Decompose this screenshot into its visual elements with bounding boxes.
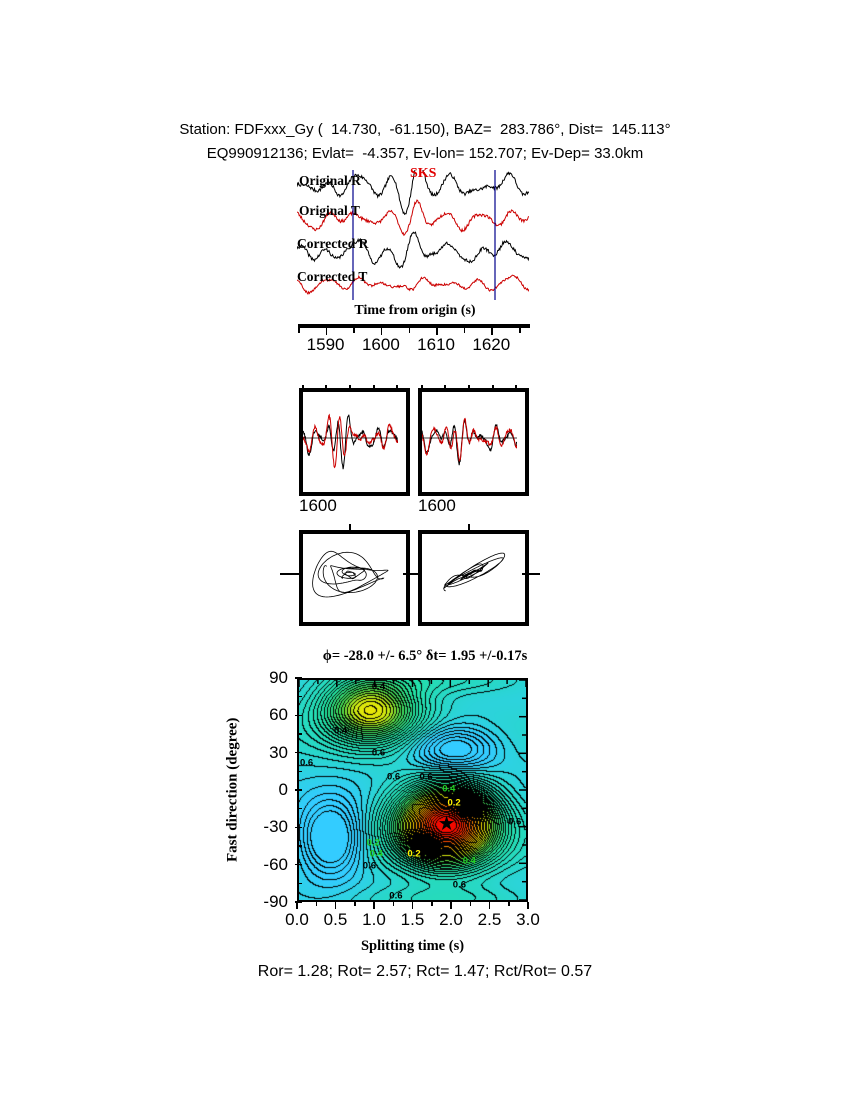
- contour-label: 0.6: [363, 860, 376, 871]
- time-axis-bar: [298, 324, 530, 328]
- time-tick: [436, 328, 438, 335]
- time-axis-label: Time from origin (s): [280, 303, 550, 319]
- x-tick: [450, 902, 452, 909]
- contour-label: 0.6: [419, 771, 432, 782]
- x-tick-minor: [354, 902, 356, 906]
- x-tick-label: 0.0: [285, 910, 309, 930]
- time-tick-minor: [353, 328, 355, 333]
- zoom-trace-red: [303, 415, 398, 468]
- y-tick: [295, 827, 302, 829]
- station-info-line: Station: FDFxxx_Gy ( 14.730, -61.150), B…: [0, 118, 850, 142]
- zoom-trace-black: [303, 415, 398, 470]
- time-tick-label: 1590: [307, 335, 345, 355]
- time-tick-minor: [409, 328, 411, 333]
- zoom-waveform-box-left: [299, 388, 410, 496]
- x-tick-minor: [431, 902, 433, 906]
- y-tick-minor: [298, 883, 302, 885]
- y-tick-minor: [298, 733, 302, 735]
- contour-plot-area[interactable]: 0.40.40.60.60.60.40.20.20.40.20.40.60.60…: [297, 678, 528, 902]
- y-tick-minor: [298, 808, 302, 810]
- y-tick: [295, 715, 302, 717]
- y-tick-label: -30: [263, 817, 288, 837]
- zoom-waveform-left-traces: [303, 392, 398, 484]
- x-tick-label: 1.0: [362, 910, 386, 930]
- time-tick-label: 1600: [362, 335, 400, 355]
- y-tick: [295, 677, 302, 679]
- y-tick: [295, 752, 302, 754]
- contour-label: 0.6: [508, 816, 521, 827]
- zoom-left-tick-label: 1600: [299, 496, 337, 516]
- contour-label: 0.6: [387, 771, 400, 782]
- time-tick: [381, 328, 383, 335]
- contour-label: 0.2: [447, 798, 460, 809]
- y-tick: [295, 864, 302, 866]
- y-tick-label: 90: [269, 668, 288, 688]
- zoom-waveform-box-right: [418, 388, 529, 496]
- time-axis: Time from origin (s) 1590160016101620: [280, 305, 550, 360]
- time-tick-minor: [298, 328, 300, 333]
- contour-label: 0.4: [334, 726, 347, 737]
- figure-header: Station: FDFxxx_Gy ( 14.730, -61.150), B…: [0, 118, 850, 166]
- x-tick-minor: [393, 902, 395, 906]
- contour-label: 0.4: [370, 848, 383, 859]
- contour-lines-overlay: [299, 680, 526, 900]
- time-tick: [326, 328, 328, 335]
- trace-label-corrected-r: Corrected R: [297, 236, 368, 252]
- time-tick-minor: [519, 328, 521, 333]
- hodogram-crosshair-ticks: [280, 524, 540, 624]
- y-tick-label: 30: [269, 743, 288, 763]
- contour-label: 0.2: [367, 837, 380, 848]
- x-tick: [412, 902, 414, 909]
- contour-label: 0.4: [463, 855, 476, 866]
- contour-label: 0.6: [372, 748, 385, 759]
- x-tick-label: 2.5: [478, 910, 502, 930]
- time-tick-minor: [464, 328, 466, 333]
- best-fit-star-marker: ★: [438, 814, 456, 834]
- trace-label-original-t: Original T: [299, 203, 360, 219]
- contour-plot-title: ϕ= -28.0 +/- 6.5° δt= 1.95 +/-0.17s: [0, 648, 850, 665]
- trace-label-corrected-t: Corrected T: [297, 269, 367, 285]
- y-tick-minor: [298, 696, 302, 698]
- y-tick-minor: [298, 771, 302, 773]
- x-tick-label: 1.5: [401, 910, 425, 930]
- y-tick: [295, 789, 302, 791]
- x-tick-minor: [316, 902, 318, 906]
- contour-label: 0.2: [407, 848, 420, 859]
- contour-label: 0.4: [372, 682, 385, 693]
- x-tick: [527, 902, 529, 909]
- x-tick-label: 2.0: [439, 910, 463, 930]
- x-tick: [489, 902, 491, 909]
- contour-label: 0.4: [442, 783, 455, 794]
- contour-x-axis-label: Splitting time (s): [297, 938, 528, 955]
- time-tick: [491, 328, 493, 335]
- y-tick-label: 0: [279, 780, 288, 800]
- y-tick-label: -90: [263, 892, 288, 912]
- x-tick-label: 3.0: [516, 910, 540, 930]
- x-tick-label: 0.5: [324, 910, 348, 930]
- y-tick-label: 60: [269, 705, 288, 725]
- event-info-line: EQ990912136; Evlat= -4.357, Ev-lon= 152.…: [0, 142, 850, 166]
- contour-label: 0.6: [453, 880, 466, 891]
- x-tick-minor: [470, 902, 472, 906]
- y-tick-minor: [298, 845, 302, 847]
- x-tick-minor: [508, 902, 510, 906]
- zoom-right-tick-label: 1600: [418, 496, 456, 516]
- time-tick-label: 1620: [472, 335, 510, 355]
- time-tick-label: 1610: [417, 335, 455, 355]
- trace-label-original-r: Original R: [299, 173, 361, 189]
- y-tick-label: -60: [263, 855, 288, 875]
- figure-footer-stats: Ror= 1.28; Rot= 2.57; Rct= 1.47; Rct/Rot…: [0, 963, 850, 981]
- zoom-waveform-right-traces: [422, 392, 517, 484]
- sks-phase-label: SKS: [410, 166, 436, 182]
- x-tick: [296, 902, 298, 909]
- x-tick: [335, 902, 337, 909]
- x-tick: [373, 902, 375, 909]
- contour-y-ticks: 9060300-30-60-90: [240, 678, 302, 902]
- contour-label: 0.6: [389, 891, 402, 902]
